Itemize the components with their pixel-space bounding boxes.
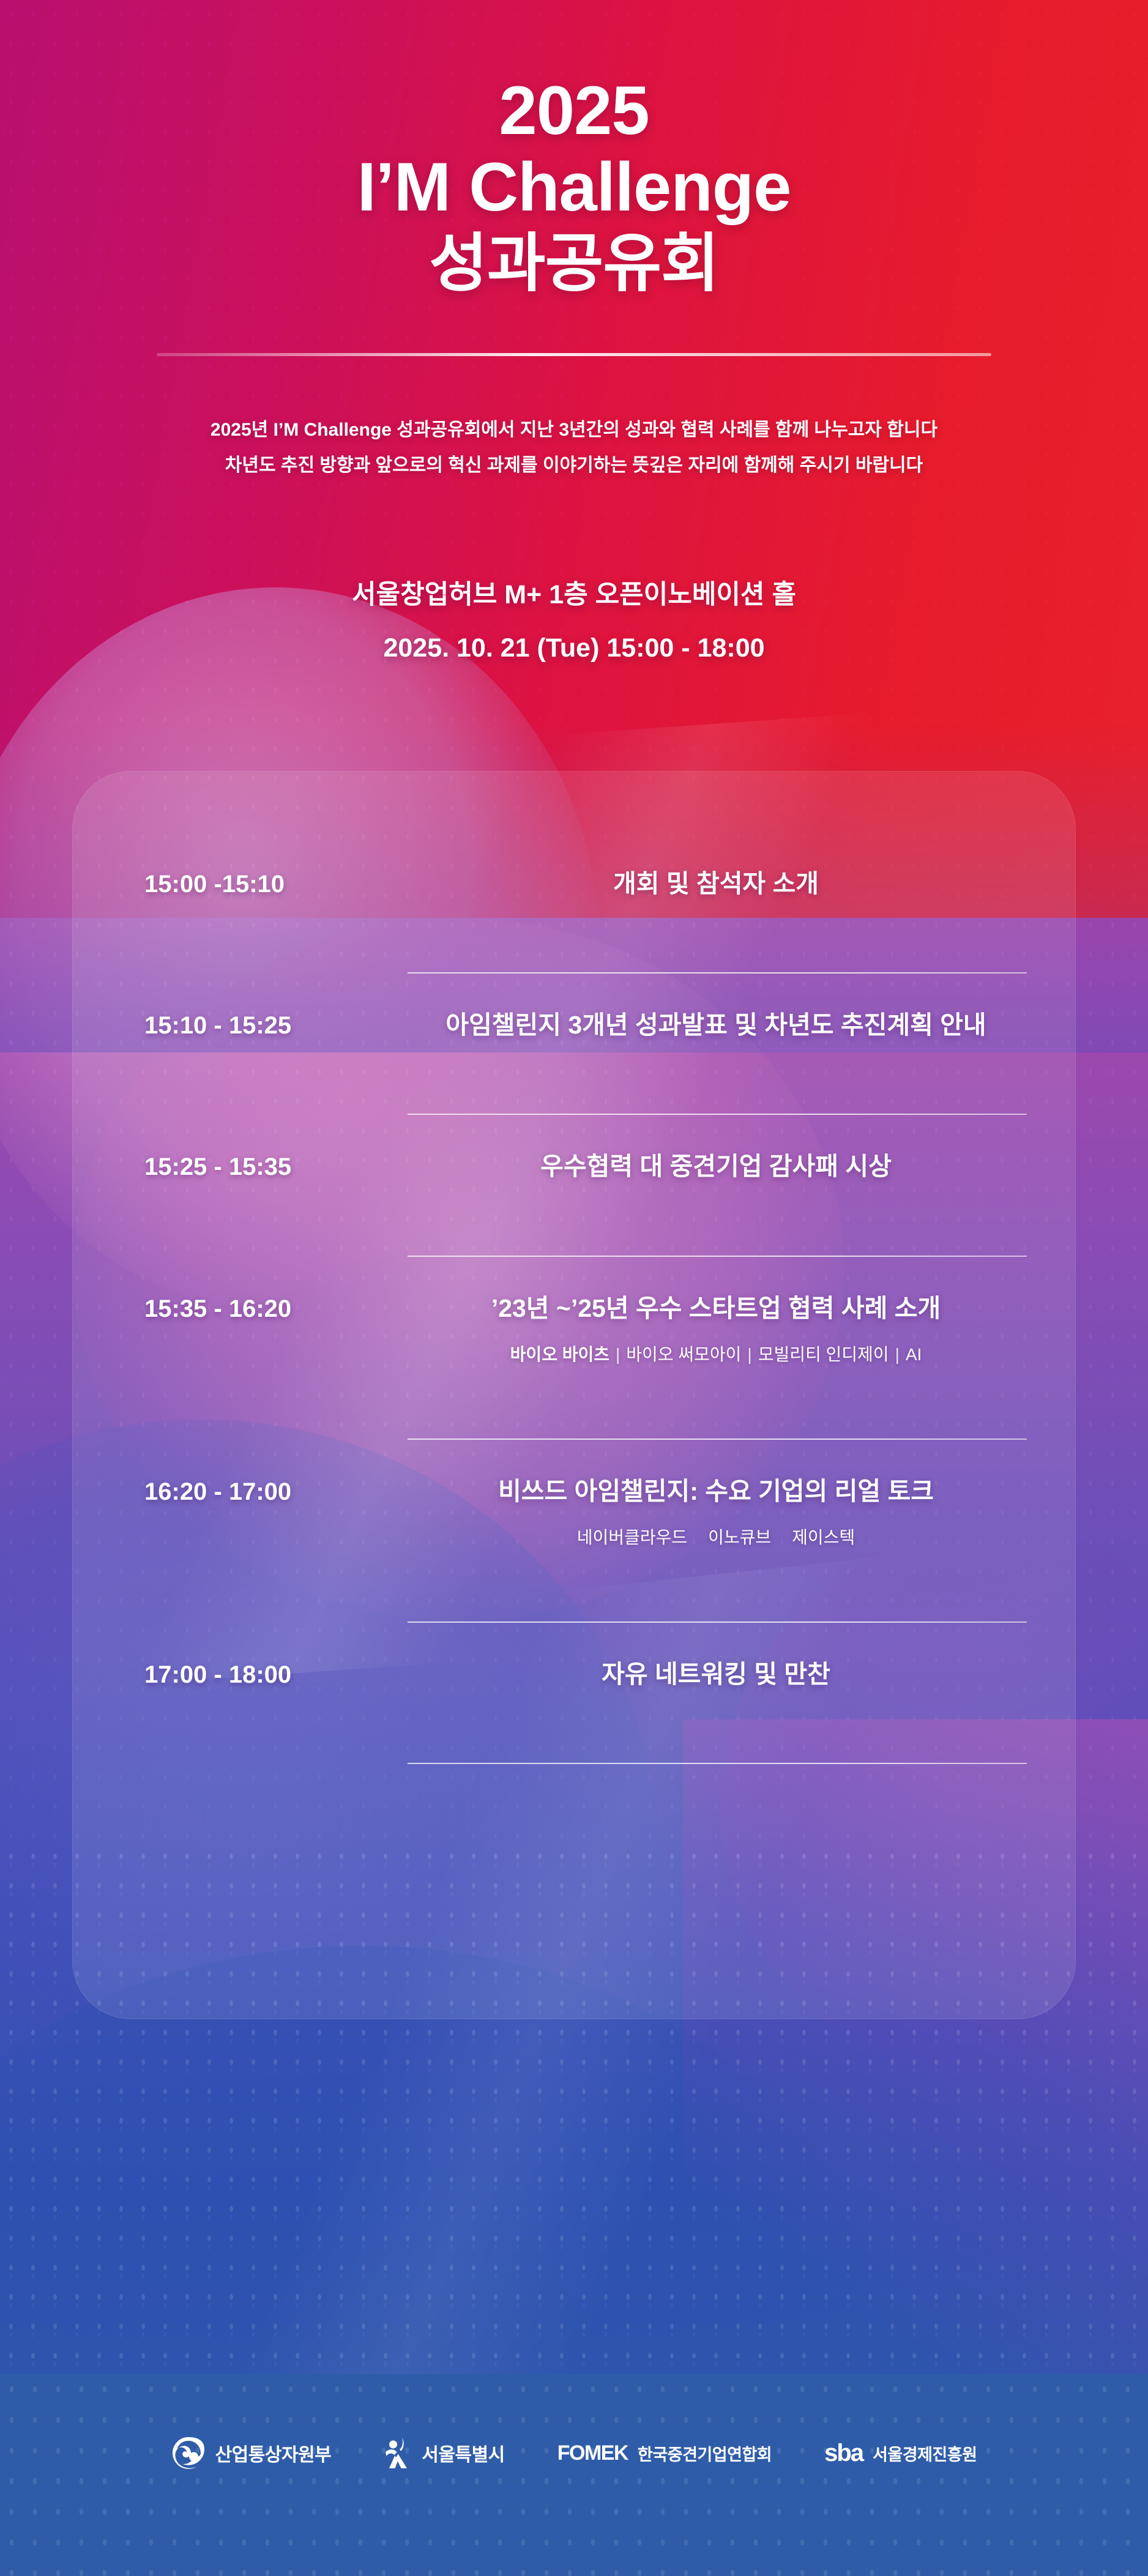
schedule-row-spacer	[72, 1577, 1076, 1621]
schedule-row-participants: 바이오 바이츠|바이오 써모아이|모빌리티 인디제이|AI	[408, 1343, 1024, 1366]
participant-name: 제이스텍	[792, 1528, 855, 1547]
poster-root: 2025 I’M Challenge 성과공유회 2025년 I’M Chall…	[0, 0, 1148, 2576]
logo-label: 산업통상자원부	[215, 2440, 332, 2466]
logo-label: 한국중견기업연합회	[638, 2441, 772, 2465]
participant-separator: |	[609, 1345, 626, 1364]
schedule-row-body: 비쓰드 아임챌린지: 수요 기업의 리얼 토크 네이버클라우드이노큐브제이스텍	[408, 1475, 1038, 1549]
schedule-row-body: 자유 네트워킹 및 만찬	[408, 1658, 1038, 1691]
intro-line-2: 차년도 추진 방향과 앞으로의 혁신 과제를 이야기하는 뜻깊은 자리에 함께해…	[0, 448, 1148, 483]
schedule-row: 15:35 - 16:20 ’23년 ~’25년 우수 스타트업 협력 사례 소…	[72, 1292, 1076, 1366]
schedule-row-time: 15:00 -15:10	[144, 868, 408, 899]
schedule-row-spacer	[72, 928, 1076, 972]
schedule-row-body: 아임챌린지 3개년 성과발표 및 차년도 추진계획 안내	[408, 1009, 1038, 1041]
schedule-row-body: ’23년 ~’25년 우수 스타트업 협력 사례 소개 바이오 바이츠|바이오 …	[408, 1292, 1038, 1366]
intro-line-1: 2025년 I’M Challenge 성과공유회에서 지난 3년간의 성과와 …	[0, 412, 1148, 448]
schedule-row-rule	[408, 1763, 1027, 1764]
participant-name: 바이오 바이츠	[510, 1345, 609, 1364]
participant-name: AI	[906, 1345, 922, 1364]
schedule-row-spacer	[72, 1257, 1076, 1292]
schedule-row: 17:00 - 18:00 자유 네트워킹 및 만찬	[72, 1658, 1076, 1691]
schedule-row-title: 아임챌린지 3개년 성과발표 및 차년도 추진계획 안내	[408, 1009, 1024, 1041]
title-main: I’M Challenge	[0, 149, 1148, 225]
logo-fomek: FOMEK 한국중견기업연합회	[557, 2441, 772, 2465]
schedule-card: 15:00 -15:10 개회 및 참석자 소개 15:10 - 15:25 아…	[72, 771, 1076, 2019]
intro-paragraph: 2025년 I’M Challenge 성과공유회에서 지난 3년간의 성과와 …	[0, 412, 1148, 483]
schedule-row-spacer	[72, 1212, 1076, 1256]
venue-place: 서울창업허브 M+ 1층 오픈이노베이션 홀	[0, 574, 1148, 617]
schedule-row-body: 개회 및 참석자 소개	[408, 868, 1038, 900]
sba-wordmark: sba	[824, 2440, 863, 2467]
logo-label: 서울경제진흥원	[873, 2441, 977, 2465]
schedule-row-time: 17:00 - 18:00	[144, 1658, 408, 1690]
participant-name: 모빌리티 인디제이	[758, 1345, 889, 1364]
logo-sba: sba 서울경제진흥원	[824, 2440, 977, 2467]
schedule-row-participants: 네이버클라우드이노큐브제이스텍	[408, 1526, 1024, 1549]
participant-separator: |	[741, 1345, 758, 1364]
participant-name: 바이오 써모아이	[626, 1345, 741, 1364]
logo-motie: 산업통상자원부	[171, 2436, 332, 2470]
fomek-wordmark: FOMEK	[557, 2441, 628, 2465]
schedule-row-spacer	[72, 1394, 1076, 1439]
participant-separator: |	[889, 1345, 906, 1364]
schedule-row-time: 16:20 - 17:00	[144, 1475, 408, 1507]
logo-label: 서울특별시	[422, 2440, 505, 2466]
schedule-row-spacer	[72, 1623, 1076, 1658]
schedule-row: 15:25 - 15:35 우수협력 대 중견기업 감사패 시상	[72, 1150, 1076, 1183]
schedule-row-spacer	[72, 1440, 1076, 1475]
schedule-row-spacer	[72, 1719, 1076, 1763]
schedule-row-title: 우수협력 대 중견기업 감사패 시상	[408, 1150, 1024, 1183]
schedule-row: 15:10 - 15:25 아임챌린지 3개년 성과발표 및 차년도 추진계획 …	[72, 1009, 1076, 1041]
footer: 산업통상자원부 서울특별시 FOMEK 한국중견기업연합회	[0, 2374, 1148, 2576]
schedule-row-time: 15:25 - 15:35	[144, 1150, 408, 1182]
schedule-row: 16:20 - 17:00 비쓰드 아임챌린지: 수요 기업의 리얼 토크 네이…	[72, 1475, 1076, 1549]
footer-logo-strip: 산업통상자원부 서울특별시 FOMEK 한국중견기업연합회	[0, 2374, 1148, 2576]
title-subtitle: 성과공유회	[0, 228, 1148, 299]
title-block: 2025 I’M Challenge 성과공유회	[0, 0, 1148, 299]
poster-content: 2025 I’M Challenge 성과공유회 2025년 I’M Chall…	[0, 0, 1148, 2019]
schedule-row-spacer	[72, 1070, 1076, 1114]
schedule-row-body: 우수협력 대 중견기업 감사패 시상	[408, 1150, 1038, 1183]
schedule-row-spacer	[72, 1115, 1076, 1150]
participant-name: 네이버클라우드	[577, 1528, 687, 1547]
venue-date: 2025. 10. 21 (Tue) 15:00 - 18:00	[0, 627, 1148, 670]
schedule-row-time: 15:10 - 15:25	[144, 1009, 408, 1041]
title-divider	[157, 353, 991, 356]
schedule-row-time: 15:35 - 16:20	[144, 1292, 408, 1324]
participant-name: 이노큐브	[708, 1528, 771, 1547]
logo-seoul: 서울특별시	[384, 2437, 505, 2469]
schedule-row-title: 비쓰드 아임챌린지: 수요 기업의 리얼 토크	[408, 1475, 1024, 1508]
schedule-row-title: 자유 네트워킹 및 만찬	[408, 1658, 1024, 1691]
title-year: 2025	[0, 72, 1148, 149]
taegeuk-swirl-icon	[171, 2436, 206, 2470]
schedule-row: 15:00 -15:10 개회 및 참석자 소개	[72, 868, 1076, 900]
schedule-row-spacer	[72, 973, 1076, 1009]
schedule-row-title: ’23년 ~’25년 우수 스타트업 협력 사례 소개	[408, 1292, 1024, 1325]
venue-block: 서울창업허브 M+ 1층 오픈이노베이션 홀 2025. 10. 21 (Tue…	[0, 574, 1148, 670]
schedule-row-title: 개회 및 참석자 소개	[408, 868, 1024, 900]
seoul-person-icon	[384, 2437, 412, 2469]
